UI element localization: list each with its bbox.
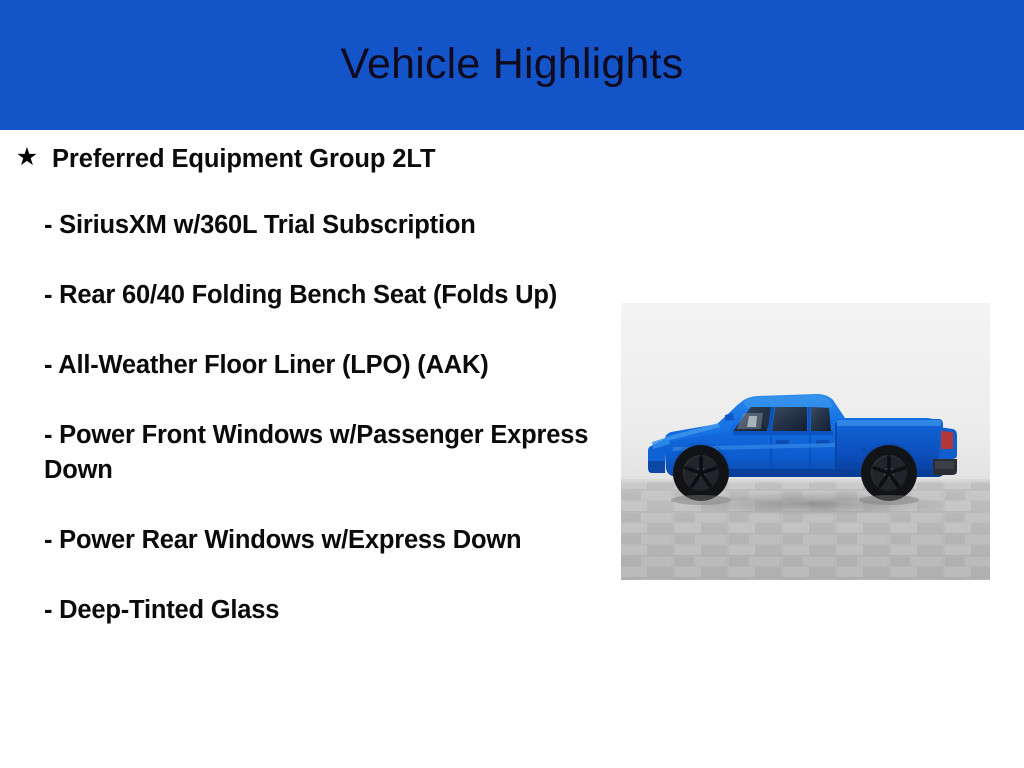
feature-group-heading-label: Preferred Equipment Group 2LT (52, 144, 435, 174)
list-item: - SiriusXM w/360L Trial Subscription (44, 208, 604, 243)
slide-root: Vehicle Highlights ★ Preferred Equipment… (0, 0, 1024, 768)
list-item: - Rear 60/40 Folding Bench Seat (Folds U… (44, 278, 604, 313)
vehicle-photo (621, 303, 990, 580)
feature-group-heading: ★ Preferred Equipment Group 2LT (14, 144, 608, 174)
list-item: - Power Rear Windows w/Express Down (44, 523, 604, 558)
feature-list: ★ Preferred Equipment Group 2LT - Sirius… (14, 144, 608, 628)
list-item: - All-Weather Floor Liner (LPO) (AAK) (44, 348, 604, 383)
list-item: - Deep-Tinted Glass (44, 593, 604, 628)
feature-sub-list: - SiriusXM w/360L Trial Subscription - R… (44, 208, 608, 628)
star-icon: ★ (14, 143, 40, 171)
page-title: Vehicle Highlights (340, 43, 683, 86)
list-item: - Power Front Windows w/Passenger Expres… (44, 418, 604, 488)
title-banner: Vehicle Highlights (0, 0, 1024, 130)
